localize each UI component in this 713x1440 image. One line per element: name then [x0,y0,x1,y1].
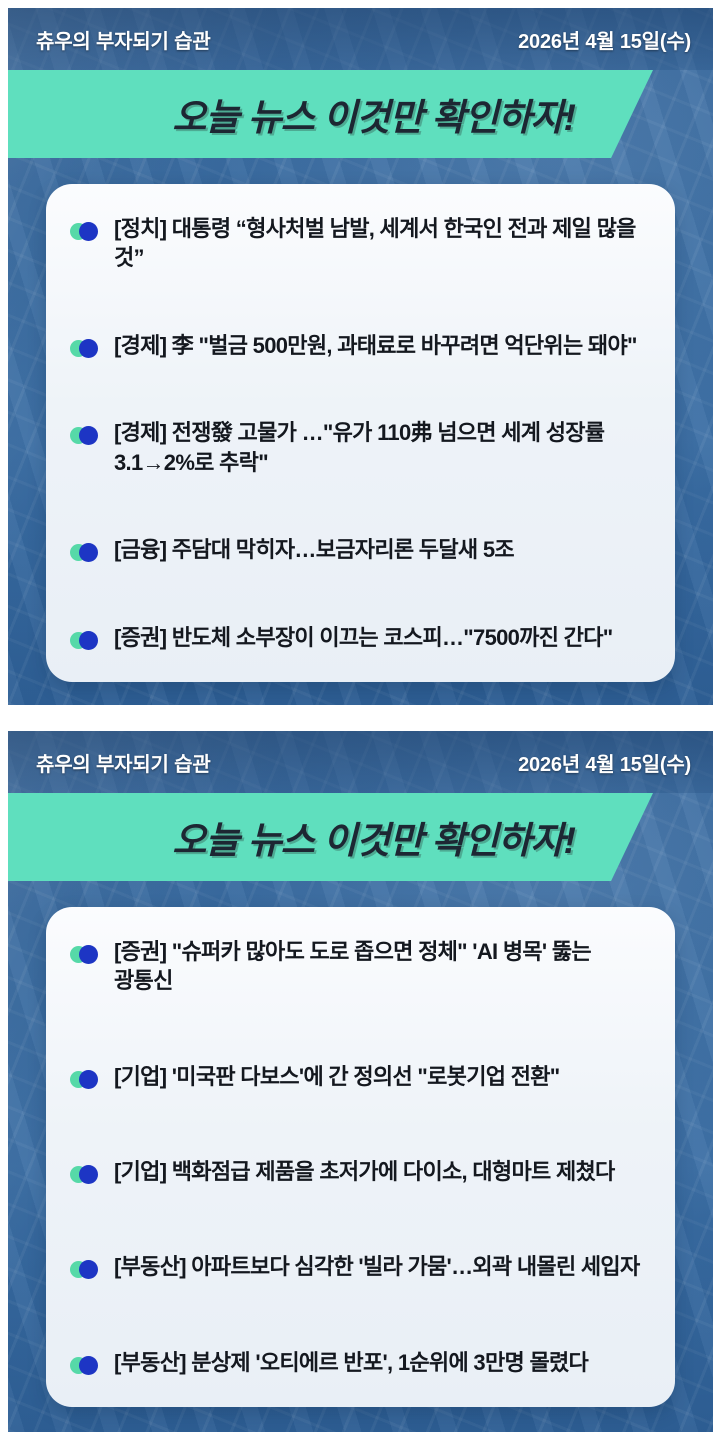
news-slide-2: 츄우의 부자되기 습관 2026년 4월 15일(수) 오늘 뉴스 이것만 확인… [8,731,713,1432]
list-item[interactable]: [부동산] 아파트보다 심각한 '빌라 가뭄'…외곽 내몰린 세입자 [70,1252,649,1281]
news-slide-1: 츄우의 부자되기 습관 2026년 4월 15일(수) 오늘 뉴스 이것만 확인… [8,8,713,705]
dual-circle-bullet-icon [70,1260,100,1279]
list-item[interactable]: [정치] 대통령 “형사처벌 남발, 세계서 한국인 전과 제일 많을 것” [70,214,649,273]
news-headline: [기업] '미국판 다보스'에 간 정의선 "로봇기업 전환" [114,1062,560,1091]
news-headline: [증권] "슈퍼카 많아도 도로 좁으면 정체" 'AI 병목' 뚫는 광통신 [114,937,649,996]
list-item[interactable]: [부동산] 분상제 '오티에르 반포', 1순위에 3만명 몰렸다 [70,1348,649,1377]
dual-circle-bullet-icon [70,1165,100,1184]
news-headline: [증권] 반도체 소부장이 이끄는 코스피…"7500까진 간다" [114,623,612,652]
dual-circle-bullet-icon [70,426,100,445]
dual-circle-bullet-icon [70,1356,100,1375]
news-headline: [부동산] 아파트보다 심각한 '빌라 가뭄'…외곽 내몰린 세입자 [114,1252,640,1281]
news-headline: [금융] 주담대 막히자…보금자리론 두달새 5조 [114,535,514,564]
list-item[interactable]: [경제] 李 "벌금 500만원, 과태료로 바꾸려면 억단위는 돼야" [70,331,649,360]
news-list: [정치] 대통령 “형사처벌 남발, 세계서 한국인 전과 제일 많을 것” [… [70,214,649,652]
header-date: 2026년 4월 15일(수) [518,748,691,777]
header-date: 2026년 4월 15일(수) [518,25,691,54]
slide-header-bar: 츄우의 부자되기 습관 2026년 4월 15일(수) [8,8,713,70]
brand-title: 츄우의 부자되기 습관 [36,748,211,777]
news-card: [정치] 대통령 “형사처벌 남발, 세계서 한국인 전과 제일 많을 것” [… [46,184,675,682]
brand-title: 츄우의 부자되기 습관 [36,25,211,54]
slide-title-text: 오늘 뉴스 이것만 확인하자! [172,87,575,141]
list-item[interactable]: [기업] '미국판 다보스'에 간 정의선 "로봇기업 전환" [70,1062,649,1091]
slide-title-banner: 오늘 뉴스 이것만 확인하자! [8,793,653,881]
news-list: [증권] "슈퍼카 많아도 도로 좁으면 정체" 'AI 병목' 뚫는 광통신 … [70,937,649,1377]
slide-title-text: 오늘 뉴스 이것만 확인하자! [172,810,575,864]
dual-circle-bullet-icon [70,222,100,241]
list-item[interactable]: [기업] 백화점급 제품을 초저가에 다이소, 대형마트 제쳤다 [70,1157,649,1186]
list-item[interactable]: [경제] 전쟁發 고물가 …"유가 110弗 넘으면 세계 성장률 3.1→2%… [70,418,649,477]
dual-circle-bullet-icon [70,543,100,562]
news-card-page: 츄우의 부자되기 습관 2026년 4월 15일(수) 오늘 뉴스 이것만 확인… [0,0,713,1440]
list-item[interactable]: [증권] "슈퍼카 많아도 도로 좁으면 정체" 'AI 병목' 뚫는 광통신 [70,937,649,996]
dual-circle-bullet-icon [70,339,100,358]
list-item[interactable]: [금융] 주담대 막히자…보금자리론 두달새 5조 [70,535,649,564]
list-item[interactable]: [증권] 반도체 소부장이 이끄는 코스피…"7500까진 간다" [70,623,649,652]
dual-circle-bullet-icon [70,1070,100,1089]
news-headline: [경제] 李 "벌금 500만원, 과태료로 바꾸려면 억단위는 돼야" [114,331,637,360]
dual-circle-bullet-icon [70,631,100,650]
news-headline: [정치] 대통령 “형사처벌 남발, 세계서 한국인 전과 제일 많을 것” [114,214,649,273]
news-headline: [경제] 전쟁發 고물가 …"유가 110弗 넘으면 세계 성장률 3.1→2%… [114,418,649,477]
slide-title-banner: 오늘 뉴스 이것만 확인하자! [8,70,653,158]
slide-header-bar: 츄우의 부자되기 습관 2026년 4월 15일(수) [8,731,713,793]
dual-circle-bullet-icon [70,945,100,964]
news-headline: [기업] 백화점급 제품을 초저가에 다이소, 대형마트 제쳤다 [114,1157,615,1186]
news-card: [증권] "슈퍼카 많아도 도로 좁으면 정체" 'AI 병목' 뚫는 광통신 … [46,907,675,1407]
news-headline: [부동산] 분상제 '오티에르 반포', 1순위에 3만명 몰렸다 [114,1348,588,1377]
